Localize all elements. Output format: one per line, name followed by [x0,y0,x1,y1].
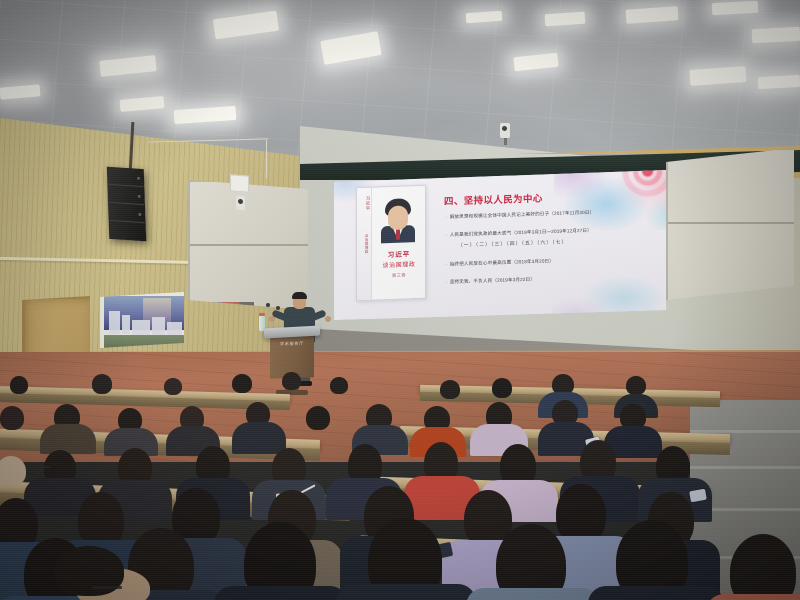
microphone-head [266,303,270,307]
lectern-label: 学术报告厅 [277,340,307,347]
picture-building [122,315,130,334]
picture-building [152,317,165,335]
ceiling-camera-icon [500,123,510,138]
slide-enumeration: （一）（二）（三）（四）（五）（六）（七） [458,238,567,248]
wall-camera-icon [236,196,245,211]
audience-torso [466,588,600,600]
audience-head [306,406,330,430]
whiteboard-right[interactable] [666,148,798,304]
slide-decoration-starburst-icon [554,170,666,230]
audience-head [626,376,646,395]
wall-cable-drop [266,140,267,178]
panel-light-9 [712,1,759,15]
audience-torso [214,586,348,600]
camera-lens [238,199,243,204]
slide-title: 四、坚持以人民为中心 [444,190,543,207]
audience-head [10,376,28,394]
speaker-led [138,195,141,198]
audience-head [0,406,24,430]
camera-lens [502,126,507,131]
picture-building [132,320,150,336]
speaker-seam [109,202,144,205]
loudspeaker [107,167,146,242]
book-portrait-photo [381,198,415,243]
presenter-left-hand [269,316,275,322]
whiteboard-right-divider [668,222,796,224]
audience-torso [336,584,476,600]
panel-light-12 [758,75,800,89]
audience-head [730,534,796,600]
audience-head [232,374,252,393]
audience-torso [232,422,286,454]
slide-book-cover: 习近平 谈治国理政 习近平 谈治国理政 第三卷 [356,185,426,302]
slide-bullet-3: 始终把人民放在心中最高位置（2018年3月20日） [446,258,554,267]
book-volume: 第三卷 [373,272,425,280]
audience-head [330,377,348,394]
bottle-cap [259,313,265,316]
book-title: 习近平 [373,248,425,260]
book-spine: 习近平 谈治国理政 [357,188,372,301]
book-spine-subtitle: 谈治国理政 [359,234,370,254]
audience-torso [588,586,724,600]
eyeglasses-icon [92,586,122,589]
audience-area [0,372,800,600]
eyeglasses-icon [36,466,50,468]
audience-head [556,484,606,544]
audience-head [164,378,182,395]
audience-head [440,380,460,399]
slide-bullet-2: 人民是我们党执政的最大底气（2018年3月1日—2019年12月27日） [446,228,592,239]
lecture-hall-photo: 习近平 谈治国理政 习近平 谈治国理政 第三卷 四、坚持以人民为中心 解放思想和… [0,0,800,600]
picture-building [167,322,182,335]
picture-building [109,311,120,335]
speaker-led [137,177,140,180]
portrait-face [388,205,408,230]
speaker-seam [108,184,143,187]
audience-torso [706,594,800,600]
audience-torso [40,424,96,454]
slide-bullet-4: 坚持无我，不负人民（2019年3月22日） [446,277,535,286]
book-spine-title: 习近平 [359,196,370,211]
audience-head [282,372,301,390]
wall-junction-box [230,174,249,192]
book-subtitle: 谈治国理政 [373,259,425,270]
presenter-right-hand [325,316,331,322]
audience-head [92,374,112,394]
projection-screen: 习近平 谈治国理政 习近平 谈治国理政 第三卷 四、坚持以人民为中心 解放思想和… [334,170,666,320]
panel-light-10 [752,27,800,43]
speaker-seam [110,220,145,223]
audience-head [0,456,26,486]
whiteboard-left-divider [190,244,310,246]
slide-surface: 习近平 谈治国理政 习近平 谈治国理政 第三卷 四、坚持以人民为中心 解放思想和… [334,170,666,320]
audience-head [492,378,512,398]
presenter-hair [292,292,307,299]
speaker-led [138,213,141,216]
